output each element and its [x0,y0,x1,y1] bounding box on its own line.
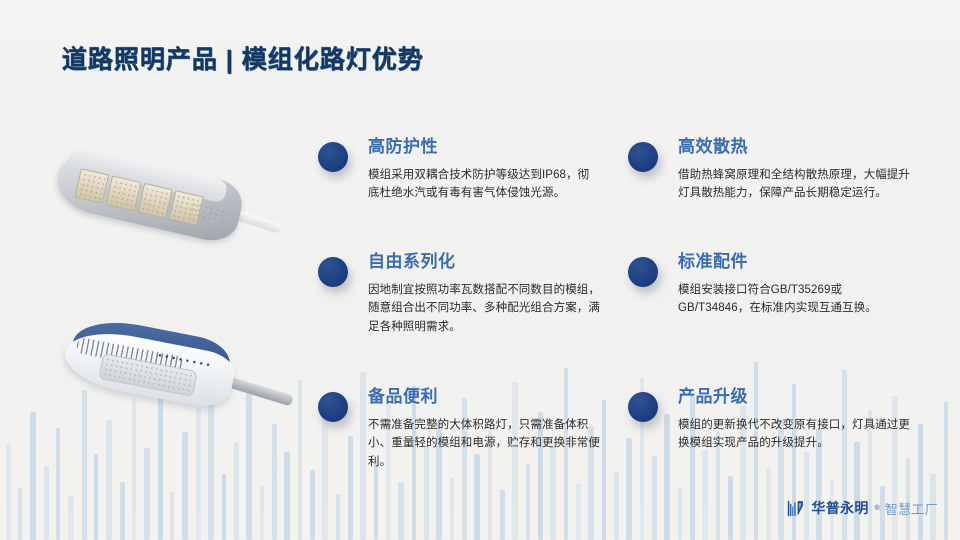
feature-item-standard-accessories: 标准配件 模组安装接口符合GB/T35269或GB/T34846，在标准内实现互… [628,253,918,318]
bullet-dot-icon [318,142,348,172]
feature-item-high-protection: 高防护性 模组采用双耦合技术防护等级达到IP68，彻底杜绝水汽或有毒有害气体侵蚀… [318,138,608,203]
slide-root: 道路照明产品 | 模组化路灯优势 高防护性 模组采用双耦合技术防护等级达到IP6… [0,0,960,540]
bullet-dot-icon [318,257,348,287]
feature-title: 标准配件 [678,253,918,272]
bullet-dot-icon [628,392,658,422]
brand-subtitle: 智慧工厂 [885,499,938,518]
feature-body: 因地制宜按照功率瓦数搭配不同数目的模组，随意组合出不同功率、多种配光组合方案，满… [368,281,600,337]
company-mark-icon [787,500,806,517]
feature-title: 产品升级 [678,388,918,407]
feature-title: 备品便利 [368,388,608,407]
registered-mark: ® [875,505,880,512]
feature-body: 借助热蜂窝原理和全结构散热原理，大幅提升灯具散热能力，保障产品长期稳定运行。 [678,166,910,203]
page-title: 道路照明产品 | 模组化路灯优势 [62,40,424,76]
feature-item-efficient-heat-dissipation: 高效散热 借助热蜂窝原理和全结构散热原理，大幅提升灯具散热能力，保障产品长期稳定… [628,138,918,203]
bullet-dot-icon [628,257,658,287]
feature-item-product-upgrade: 产品升级 模组的更新换代不改变原有接口，灯具通过更换模组实现产品的升级提升。 [628,388,918,453]
feature-item-spare-parts-convenience: 备品便利 不需准备完整的大体积路灯，只需准备体积小、重量轻的模组和电源，贮存和更… [318,388,608,472]
feature-title: 高效散热 [678,138,918,157]
brand-name: 华普永明 [811,498,868,518]
feature-body: 模组安装接口符合GB/T35269或GB/T34846，在标准内实现互通互换。 [678,281,910,318]
feature-body: 模组的更新换代不改变原有接口，灯具通过更换模组实现产品的升级提升。 [678,416,910,453]
bullet-dot-icon [318,392,348,422]
feature-title: 自由系列化 [368,253,608,272]
feature-body: 不需准备完整的大体积路灯，只需准备体积小、重量轻的模组和电源，贮存和更换非常便利… [368,416,600,472]
feature-grid: 高防护性 模组采用双耦合技术防护等级达到IP68，彻底杜绝水汽或有毒有害气体侵蚀… [0,0,960,540]
feature-item-free-serialization: 自由系列化 因地制宜按照功率瓦数搭配不同数目的模组，随意组合出不同功率、多种配光… [318,253,608,337]
brand-logo: 华普永明 ® 智慧工厂 [787,498,938,518]
feature-title: 高防护性 [368,138,608,157]
bullet-dot-icon [628,142,658,172]
feature-body: 模组采用双耦合技术防护等级达到IP68，彻底杜绝水汽或有毒有害气体侵蚀光源。 [368,166,600,203]
